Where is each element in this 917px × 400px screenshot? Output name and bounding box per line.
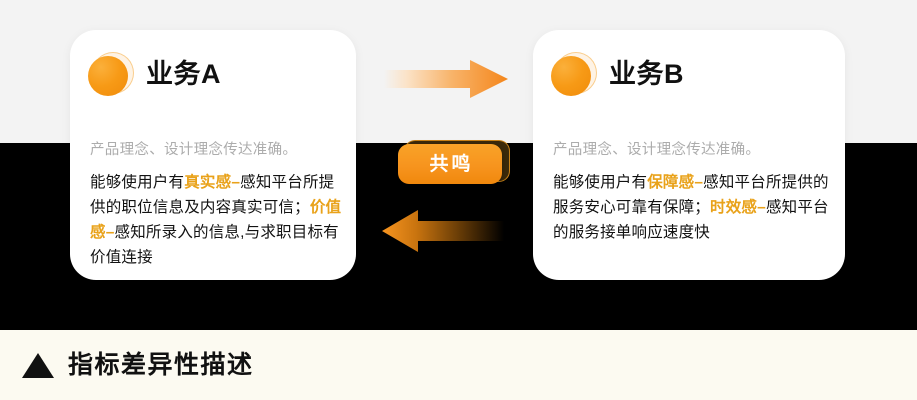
orange-circle-fill (88, 56, 128, 96)
text-segment-highlight: 真实感 (184, 174, 231, 191)
slide-canvas: 业务A 产品理念、设计理念传达准确。 能够使用户有真实感–感知平台所提供的职位信… (0, 0, 917, 400)
card-b-body: 能够使用户有保障感–感知平台所提供的服务安心可靠有保障；时效感–感知平台的服务接… (553, 170, 835, 245)
arrow-left-icon (382, 210, 504, 252)
text-segment-dash: – (694, 174, 703, 191)
text-segment-normal: 能够使用户有 (553, 174, 647, 191)
text-segment-highlight: 保障感 (647, 174, 694, 191)
card-business-a[interactable]: 业务A 产品理念、设计理念传达准确。 能够使用户有真实感–感知平台所提供的职位信… (70, 30, 356, 280)
orange-circle-icon (551, 52, 595, 96)
text-segment-dash: – (231, 174, 240, 191)
footer-bar: 指标差异性描述 (0, 330, 917, 400)
resonance-badge-label: 共鸣 (426, 155, 473, 174)
card-b-subtitle: 产品理念、设计理念传达准确。 (553, 138, 760, 159)
triangle-up-icon (22, 353, 54, 378)
text-segment-highlight: 时效感 (710, 199, 757, 216)
card-business-b[interactable]: 业务B 产品理念、设计理念传达准确。 能够使用户有保障感–感知平台所提供的服务安… (533, 30, 845, 280)
text-segment-dash: – (757, 199, 766, 216)
resonance-badge[interactable]: 共鸣 (398, 144, 502, 184)
text-segment-dash: – (106, 224, 115, 241)
footer-title: 指标差异性描述 (68, 353, 254, 378)
orange-circle-icon (88, 52, 132, 96)
card-a-subtitle: 产品理念、设计理念传达准确。 (90, 138, 297, 159)
text-segment-normal: 能够使用户有 (90, 174, 184, 191)
card-a-title: 业务A (146, 61, 221, 88)
text-segment-normal: 感知所录入的信息,与求职目标有价值连接 (90, 224, 339, 266)
card-a-body: 能够使用户有真实感–感知平台所提供的职位信息及内容真实可信；价值感–感知所录入的… (90, 170, 342, 270)
card-b-title: 业务B (609, 61, 684, 88)
arrow-right-icon (384, 60, 508, 98)
orange-circle-fill (551, 56, 591, 96)
card-a-header: 业务A (88, 52, 221, 96)
card-b-header: 业务B (551, 52, 684, 96)
